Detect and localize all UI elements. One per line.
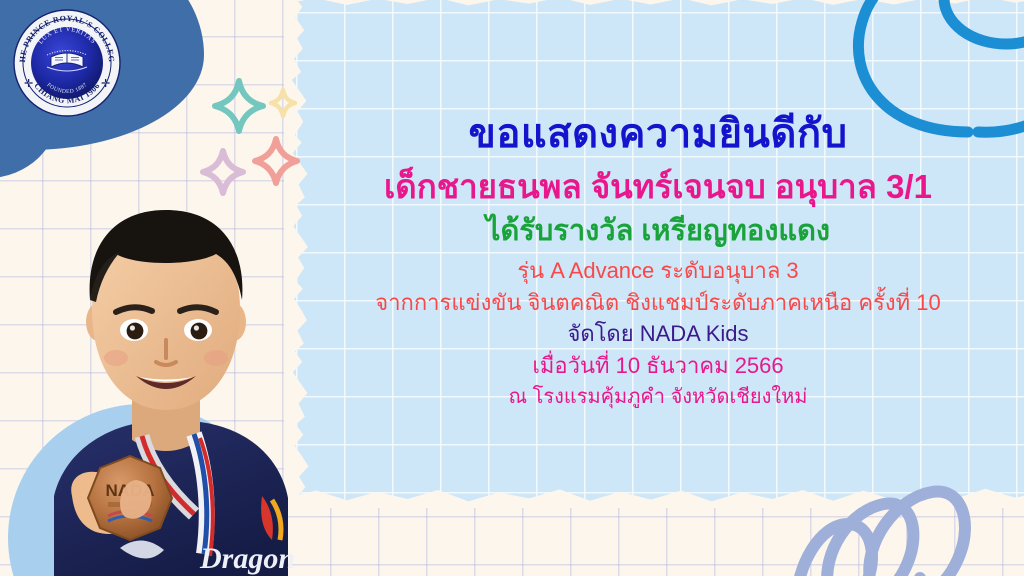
college-seal-logo: THE PRINCE ROYAL'S COLLEGE CHIANG MAI 19… xyxy=(13,9,121,117)
certificate-text-block: ขอแสดงความยินดีกับ เด็กชายธนพล จันทร์เจน… xyxy=(300,112,1016,408)
salmon-sparkle-icon xyxy=(252,136,300,191)
category-line: รุ่น A Advance ระดับอนุบาล 3 xyxy=(300,259,1016,284)
seal-cross-right: ✛ xyxy=(101,78,110,90)
periwinkle-loop-decoration xyxy=(792,480,1024,576)
student-name-line: เด็กชายธนพล จันทร์เจนจบ อนุบาล 3/1 xyxy=(300,169,1016,206)
certificate-canvas: THE PRINCE ROYAL'S COLLEGE CHIANG MAI 19… xyxy=(0,0,1024,576)
seal-cross-left: ✛ xyxy=(24,78,33,90)
competition-line: จากการแข่งขัน จินตคณิต ชิงแชมป์ระดับภาคเ… xyxy=(300,291,1016,316)
student-photo: NADA Dragon xyxy=(24,196,308,576)
award-line: ได้รับรางวัล เหรียญทองแดง xyxy=(300,215,1016,247)
lavender-sparkle-icon xyxy=(200,148,246,201)
venue-line: ณ โรงแรมคุ้มภูคำ จังหวัดเชียงใหม่ xyxy=(300,386,1016,408)
organizer-line: จัดโดย NADA Kids xyxy=(300,322,1016,347)
date-line: เมื่อวันที่ 10 ธันวาคม 2566 xyxy=(300,354,1016,379)
jersey-label: Dragon xyxy=(199,542,295,575)
pale-yellow-sparkle-icon xyxy=(269,88,297,123)
congratulation-headline: ขอแสดงความยินดีกับ xyxy=(300,112,1016,157)
teal-sparkle-icon xyxy=(212,78,266,139)
